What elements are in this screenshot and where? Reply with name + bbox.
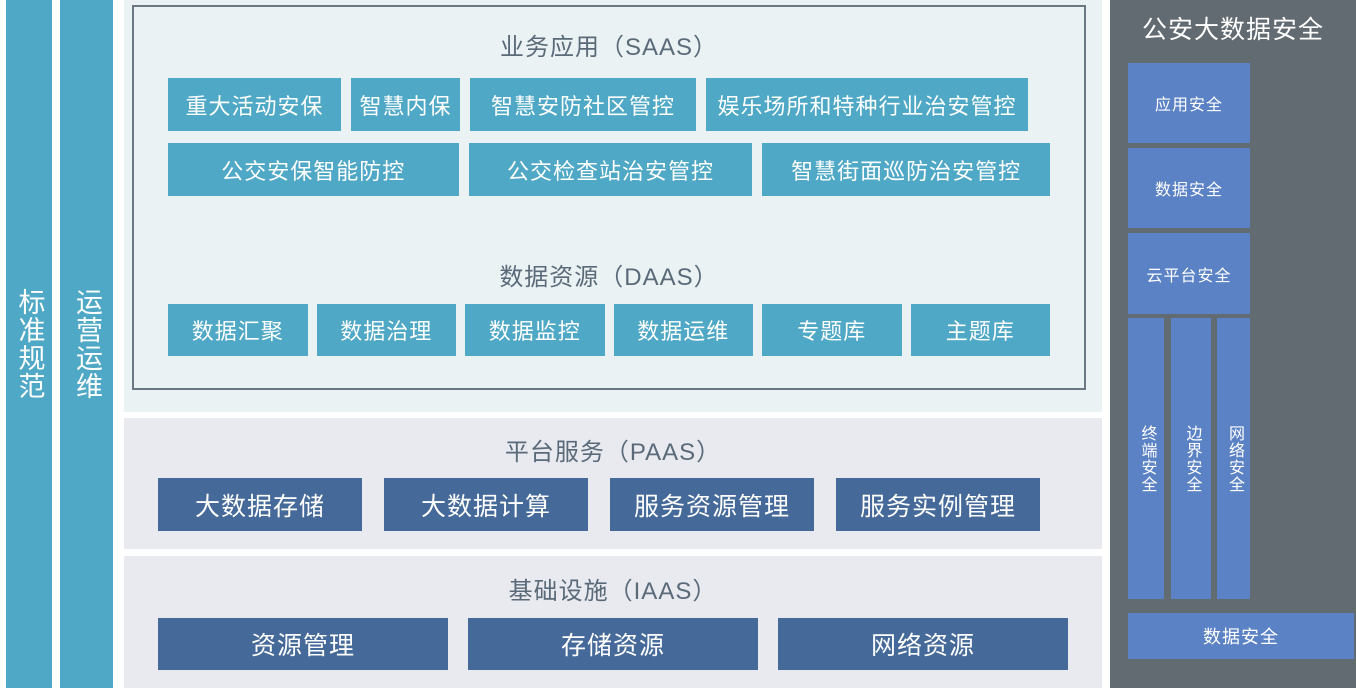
security-box-cloud-platform-security[interactable]: 云平台安全 bbox=[1128, 233, 1250, 314]
layer-saas-row: 重大活动安保 智慧内保 智慧安防社区管控 娱乐场所和特种行业治安管控 bbox=[134, 78, 1084, 131]
sidebar-operations-maintenance-label: 运营运维 bbox=[70, 288, 103, 400]
chip-data-monitoring[interactable]: 数据监控 bbox=[465, 304, 605, 356]
security-panel: 公安大数据安全 应用安全 数据安全 云平台安全 终端安全 边界安全 网络安全 数… bbox=[1110, 0, 1356, 688]
layer-saas: 业务应用（SAAS） 重大活动安保 智慧内保 智慧安防社区管控 娱乐场所和特种行… bbox=[134, 7, 1084, 227]
layer-paas-row: 大数据存储 大数据计算 服务资源管理 服务实例管理 bbox=[124, 478, 1102, 531]
layer-saas-row: 公交安保智能防控 公交检查站治安管控 智慧街面巡防治安管控 bbox=[134, 143, 1084, 196]
chip-service-instance-management[interactable]: 服务实例管理 bbox=[836, 478, 1040, 531]
layer-daas-row: 数据汇聚 数据治理 数据监控 数据运维 专题库 主题库 bbox=[134, 304, 1084, 356]
chip-smart-street-patrol-security-control[interactable]: 智慧街面巡防治安管控 bbox=[762, 143, 1050, 196]
chip-data-aggregation[interactable]: 数据汇聚 bbox=[168, 304, 308, 356]
layer-iaas-row: 资源管理 存储资源 网络资源 bbox=[124, 618, 1102, 670]
chip-big-data-computing[interactable]: 大数据计算 bbox=[384, 478, 588, 531]
chip-major-event-security[interactable]: 重大活动安保 bbox=[168, 78, 341, 131]
chip-resource-management[interactable]: 资源管理 bbox=[158, 618, 448, 670]
sidebar-operations-maintenance[interactable]: 运营运维 bbox=[60, 0, 113, 688]
layer-stack: 业务应用（SAAS） 重大活动安保 智慧内保 智慧安防社区管控 娱乐场所和特种行… bbox=[124, 0, 1102, 688]
chip-thematic-library[interactable]: 专题库 bbox=[762, 304, 902, 356]
chip-data-governance[interactable]: 数据治理 bbox=[317, 304, 457, 356]
chip-entertainment-special-industry-control[interactable]: 娱乐场所和特种行业治安管控 bbox=[706, 78, 1028, 131]
layer-daas: 数据资源（DAAS） 数据汇聚 数据治理 数据监控 数据运维 专题库 主题库 bbox=[134, 243, 1084, 388]
chip-smart-internal-security[interactable]: 智慧内保 bbox=[351, 78, 460, 131]
security-box-network-security[interactable]: 网络安全 bbox=[1217, 318, 1250, 599]
chip-storage-resources[interactable]: 存储资源 bbox=[468, 618, 758, 670]
layer-paas: 平台服务（PAAS） 大数据存储 大数据计算 服务资源管理 服务实例管理 bbox=[124, 418, 1102, 549]
sidebar-standard-spec-label: 标准规范 bbox=[13, 288, 46, 400]
security-box-terminal-security[interactable]: 终端安全 bbox=[1128, 318, 1164, 599]
security-box-application-security[interactable]: 应用安全 bbox=[1128, 63, 1250, 143]
chip-big-data-storage[interactable]: 大数据存储 bbox=[158, 478, 362, 531]
chip-subject-library[interactable]: 主题库 bbox=[911, 304, 1051, 356]
security-box-data-security[interactable]: 数据安全 bbox=[1128, 148, 1250, 228]
chip-smart-community-security-control[interactable]: 智慧安防社区管控 bbox=[470, 78, 696, 131]
chip-network-resources[interactable]: 网络资源 bbox=[778, 618, 1068, 670]
chip-bus-security-smart-control[interactable]: 公交安保智能防控 bbox=[168, 143, 459, 196]
security-box-boundary-security[interactable]: 边界安全 bbox=[1171, 318, 1211, 599]
chip-service-resource-management[interactable]: 服务资源管理 bbox=[610, 478, 814, 531]
chip-data-operations[interactable]: 数据运维 bbox=[614, 304, 754, 356]
sidebar-standard-spec[interactable]: 标准规范 bbox=[6, 0, 52, 688]
layer-daas-title: 数据资源（DAAS） bbox=[134, 243, 1084, 292]
layer-iaas-title: 基础设施（IAAS） bbox=[124, 556, 1102, 606]
layer-iaas: 基础设施（IAAS） 资源管理 存储资源 网络资源 bbox=[124, 556, 1102, 688]
layer-saas-title: 业务应用（SAAS） bbox=[134, 7, 1084, 62]
security-panel-title: 公安大数据安全 bbox=[1110, 0, 1356, 46]
chip-bus-checkpoint-security-control[interactable]: 公交检查站治安管控 bbox=[469, 143, 753, 196]
architecture-diagram: 标准规范 运营运维 业务应用（SAAS） 重大活动安保 智慧内保 智慧安防社区管… bbox=[0, 0, 1356, 688]
security-box-data-security-bottom[interactable]: 数据安全 bbox=[1128, 613, 1354, 659]
layer-paas-title: 平台服务（PAAS） bbox=[124, 418, 1102, 467]
application-and-data-frame: 业务应用（SAAS） 重大活动安保 智慧内保 智慧安防社区管控 娱乐场所和特种行… bbox=[124, 0, 1102, 412]
